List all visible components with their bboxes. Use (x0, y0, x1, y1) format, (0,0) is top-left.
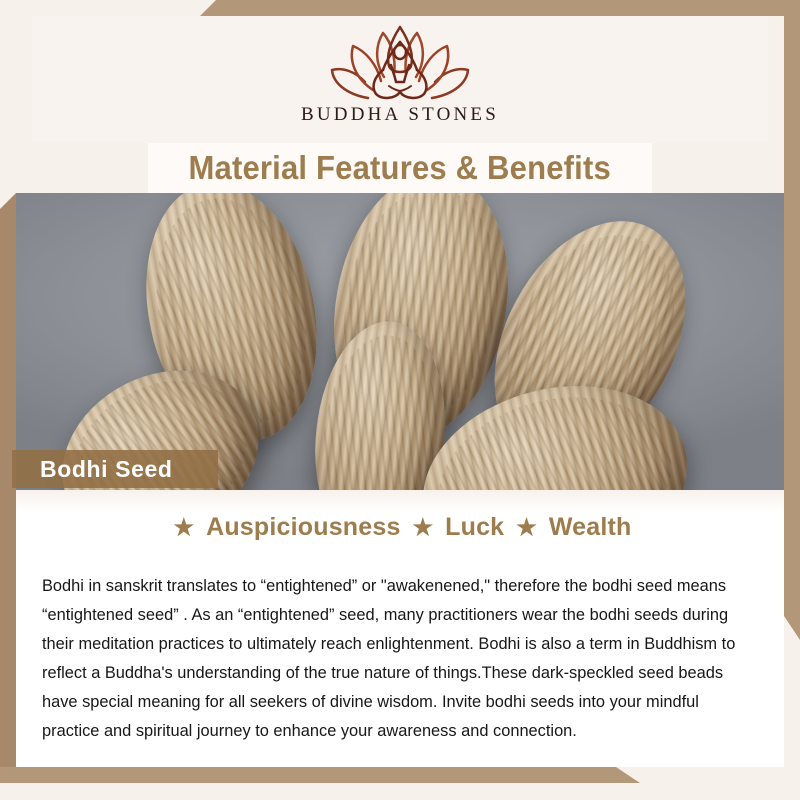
product-photo (16, 193, 784, 490)
frame-band-bottom (0, 767, 640, 783)
frame-band-right (784, 0, 800, 640)
frame-band-top (0, 0, 800, 16)
benefits-headline: ★ Auspiciousness ★ Luck ★ Wealth (16, 513, 784, 542)
brand-header: BUDDHA STONES (32, 16, 768, 143)
brand-name: BUDDHA STONES (301, 104, 499, 126)
frame-band-left (0, 193, 16, 783)
lotus-meditation-icon (325, 24, 475, 102)
star-icon-1: ★ (173, 514, 194, 540)
benefit-luck: Luck (445, 513, 504, 541)
panel-top-fade (16, 490, 784, 512)
title-banner: Material Features & Benefits (148, 143, 652, 193)
star-icon-3: ★ (516, 514, 537, 540)
material-name-label: Bodhi Seed (40, 456, 173, 483)
description-panel: ★ Auspiciousness ★ Luck ★ Wealth Bodhi i… (16, 490, 784, 767)
poster-card: BUDDHA STONES Material Features & Benefi… (0, 0, 800, 800)
benefit-wealth: Wealth (549, 513, 632, 541)
benefit-auspiciousness: Auspiciousness (206, 513, 401, 541)
page-title: Material Features & Benefits (189, 149, 611, 187)
description-text: Bodhi in sanskrit translates to “entight… (42, 572, 756, 746)
star-icon-2: ★ (413, 514, 434, 540)
material-name-badge: Bodhi Seed (12, 450, 218, 488)
